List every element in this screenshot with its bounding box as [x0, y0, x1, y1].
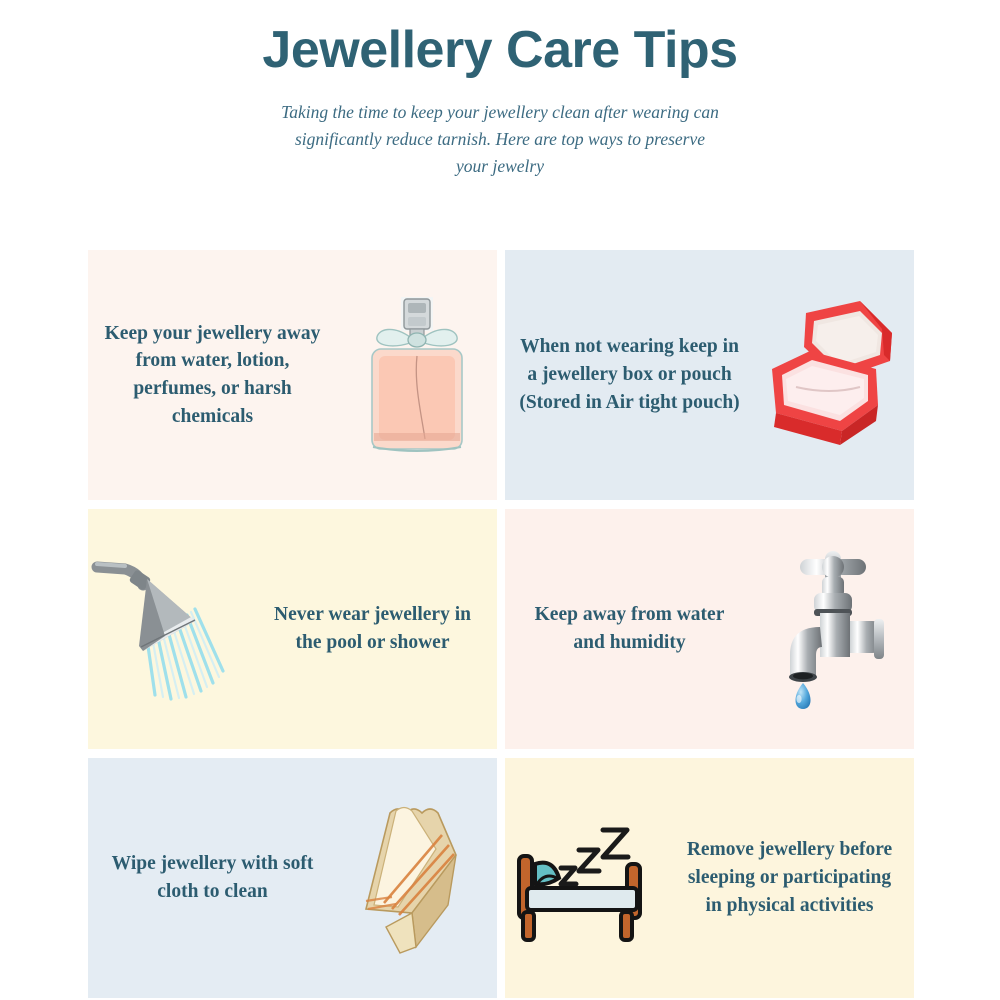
tip-card-jewellery-box: When not wearing keep in a jewellery box… [505, 250, 914, 500]
page-subtitle: Taking the time to keep your jewellery c… [280, 99, 720, 180]
tip-card-text: Keep away from water and humidity [505, 601, 754, 656]
tip-card-text: Keep your jewellery away from water, lot… [88, 320, 337, 431]
shower-head-icon [88, 509, 248, 749]
tip-card-cloth: Wipe jewellery with soft cloth to clean [88, 758, 497, 998]
tip-card-sleep: Remove jewellery before sleeping or part… [505, 758, 914, 998]
tip-card-text: Remove jewellery before sleeping or part… [665, 836, 914, 919]
infographic-page: Jewellery Care Tips Taking the time to k… [0, 22, 1000, 1000]
faucet-drip-icon [754, 509, 914, 749]
tip-card-faucet: Keep away from water and humidity [505, 509, 914, 749]
cleaning-cloth-icon [337, 758, 497, 998]
tip-card-text: When not wearing keep in a jewellery box… [505, 333, 754, 416]
page-title: Jewellery Care Tips [0, 22, 1000, 79]
tip-card-shower: Never wear jewellery in the pool or show… [88, 509, 497, 749]
ring-box-icon [754, 250, 914, 500]
tip-card-text: Never wear jewellery in the pool or show… [248, 601, 497, 656]
tip-card-perfume: Keep your jewellery away from water, lot… [88, 250, 497, 500]
perfume-bottle-icon [337, 250, 497, 500]
tip-card-text: Wipe jewellery with soft cloth to clean [88, 850, 337, 905]
bed-sleep-icon [505, 758, 665, 998]
tips-grid: Keep your jewellery away from water, lot… [88, 250, 914, 998]
